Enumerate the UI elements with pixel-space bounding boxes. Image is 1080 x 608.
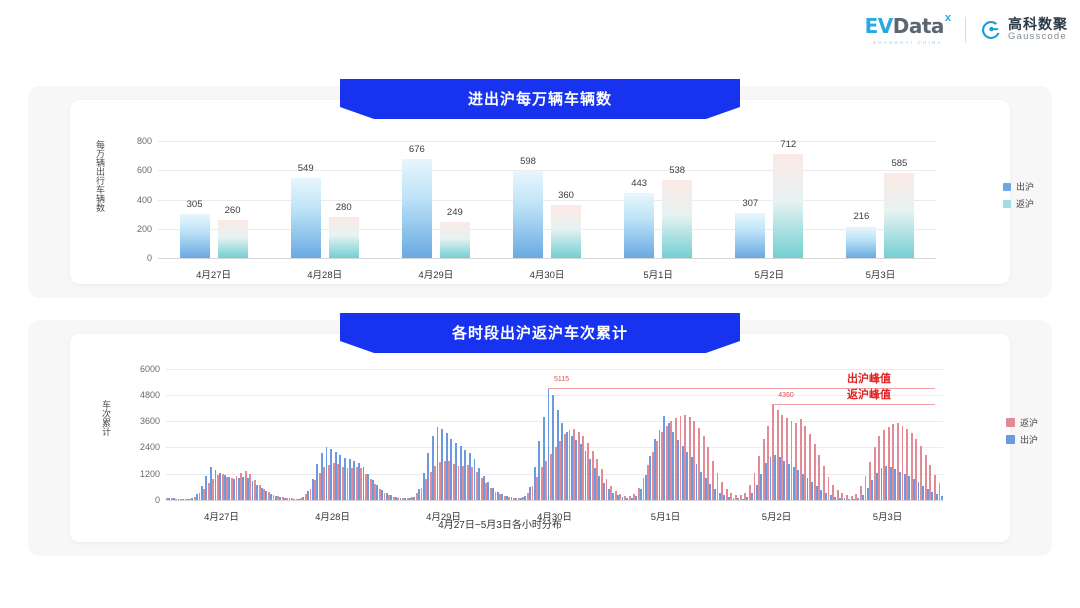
chart1-bar-value: 538 — [669, 165, 685, 176]
chart2-gridline — [166, 369, 943, 370]
chart1-bar-value: 249 — [447, 207, 463, 218]
gausscode-label-en: Gausscode — [1008, 32, 1068, 42]
section1-banner: 进出沪每万辆车辆数 — [28, 80, 1052, 120]
page-header: EVData x SHANGHAI CHINA 高科数聚 Gausscode — [0, 0, 1080, 62]
chart2-gridline — [166, 421, 943, 422]
chart1-bar-value: 549 — [298, 163, 314, 174]
chart2-x-axis-line — [166, 500, 943, 501]
chart1-bar-value: 585 — [891, 158, 907, 169]
chart1-bar-返沪-4月29日 — [440, 222, 470, 258]
chart2-y-tick: 4800 — [118, 390, 160, 400]
peak-label-return: 返沪峰值 — [847, 386, 891, 402]
evdata-word-part2: Data — [893, 14, 944, 38]
legend-swatch-icon — [1006, 418, 1015, 427]
legend-label: 出沪 — [1016, 180, 1034, 193]
evdata-word-part1: EV — [865, 14, 893, 38]
peak-value-return: 4360 — [778, 392, 794, 399]
chart1-bar-返沪-4月28日 — [329, 217, 359, 258]
legend-swatch-icon — [1003, 200, 1011, 208]
chart1-bar-value: 216 — [853, 211, 869, 222]
legend-item-返沪: 返沪 — [1003, 197, 1034, 210]
legend-label: 返沪 — [1020, 416, 1038, 429]
chart1-gridline — [158, 229, 936, 230]
chart1-bar-value: 260 — [225, 205, 241, 216]
chart1-bar-value: 360 — [558, 190, 574, 201]
chart1-y-tick: 800 — [112, 136, 152, 146]
chart1-x-axis-line — [158, 258, 936, 259]
chart1-gridline — [158, 141, 936, 142]
peak-label-outbound: 出沪峰值 — [847, 370, 891, 386]
chart1-x-tick: 4月28日 — [307, 267, 342, 281]
chart1-bar-value: 280 — [336, 202, 352, 213]
chart1-bar-value: 307 — [742, 198, 758, 209]
evdata-wordmark: EVData — [865, 14, 944, 38]
legend-label: 返沪 — [1016, 197, 1034, 210]
legend-item-返沪: 返沪 — [1006, 416, 1038, 429]
chart1-bar-出沪-4月27日 — [180, 214, 210, 258]
chart1-x-tick: 5月2日 — [754, 267, 784, 281]
peak-line-return — [772, 404, 935, 405]
chart1-bar-value: 443 — [631, 178, 647, 189]
chart1-bar-出沪-5月2日 — [735, 213, 765, 258]
chart1-x-tick: 4月27日 — [196, 267, 231, 281]
chart2-y-axis-label: 车次累计 — [100, 400, 113, 436]
chart1-bar-出沪-4月30日 — [513, 171, 543, 258]
chart1-bar-返沪-4月30日 — [551, 205, 581, 258]
section2-banner: 各时段出沪返沪车次累计 — [28, 314, 1052, 354]
chart2-y-tick: 3600 — [118, 416, 160, 426]
legend-chart-2: 返沪出沪 — [1006, 416, 1038, 446]
chart1-x-tick: 4月30日 — [530, 267, 565, 281]
chart1-bar-value: 305 — [187, 199, 203, 210]
legend-swatch-icon — [1006, 435, 1015, 444]
gausscode-mark-icon — [980, 19, 1002, 41]
peak-value-outbound: 5115 — [554, 376, 569, 383]
chart1-x-tick: 4月29日 — [418, 267, 453, 281]
logo-group: EVData x SHANGHAI CHINA 高科数聚 Gausscode — [865, 14, 1068, 45]
chart1-bar-出沪-4月28日 — [291, 178, 321, 258]
chart1-bar-返沪-5月3日 — [884, 173, 914, 258]
logo-divider — [965, 17, 966, 43]
chart1-y-tick: 0 — [112, 253, 152, 263]
chart1-gridline — [158, 170, 936, 171]
chart1-bar-value: 712 — [780, 139, 796, 150]
section2-title: 各时段出沪返沪车次累计 — [340, 322, 740, 343]
screenshot-root: EVData x SHANGHAI CHINA 高科数聚 Gausscode — [0, 0, 1080, 608]
chart2-y-tick: 6000 — [118, 364, 160, 374]
section1-title: 进出沪每万辆车辆数 — [340, 88, 740, 109]
gausscode-logo-icon: 高科数聚 Gausscode — [980, 17, 1068, 42]
chart1-bar-value: 676 — [409, 144, 425, 155]
chart-panel-vehicle-counts: 进出沪每万辆车辆数 每万辆出行车辆数02004006008003052604月2… — [28, 86, 1052, 298]
chart1-bar-出沪-5月1日 — [624, 193, 654, 258]
legend-item-出沪: 出沪 — [1003, 180, 1034, 193]
chart1-y-tick: 600 — [112, 165, 152, 175]
chart1-gridline — [158, 200, 936, 201]
chart2-y-tick: 2400 — [118, 442, 160, 452]
legend-label: 出沪 — [1020, 433, 1038, 446]
chart2-bar-outbound — [941, 496, 943, 500]
chart1-bar-返沪-5月2日 — [773, 154, 803, 258]
evdata-tagline: SHANGHAI CHINA — [873, 40, 943, 45]
chart1-bar-返沪-4月27日 — [218, 220, 248, 258]
chart1-y-axis-label: 每万辆出行车辆数 — [94, 140, 107, 254]
chart2-subtitle: 4月27日~5月3日各小时分布 — [0, 516, 1012, 531]
evdata-logo-icon: EVData x SHANGHAI CHINA — [865, 14, 951, 45]
chart1-bar-出沪-4月29日 — [402, 159, 432, 258]
legend-chart-1: 出沪返沪 — [1003, 180, 1034, 210]
legend-item-出沪: 出沪 — [1006, 433, 1038, 446]
chart2-y-tick: 0 — [118, 495, 160, 505]
chart-panel-hourly-trips: 各时段出沪返沪车次累计 车次累计0120024003600480060004月2… — [28, 320, 1052, 556]
chart1-y-tick: 400 — [112, 195, 152, 205]
evdata-superscript: x — [945, 12, 951, 24]
chart1-bar-出沪-5月3日 — [846, 227, 876, 259]
chart1-x-tick: 5月3日 — [866, 267, 896, 281]
chart2-gridline — [166, 395, 943, 396]
legend-swatch-icon — [1003, 183, 1011, 191]
chart1-bar-返沪-5月1日 — [662, 180, 692, 258]
gausscode-label-cn: 高科数聚 — [1008, 17, 1068, 32]
chart1-x-tick: 5月1日 — [643, 267, 673, 281]
chart2-y-tick: 1200 — [118, 469, 160, 479]
chart1-bar-value: 598 — [520, 156, 536, 167]
chart1-y-tick: 200 — [112, 224, 152, 234]
